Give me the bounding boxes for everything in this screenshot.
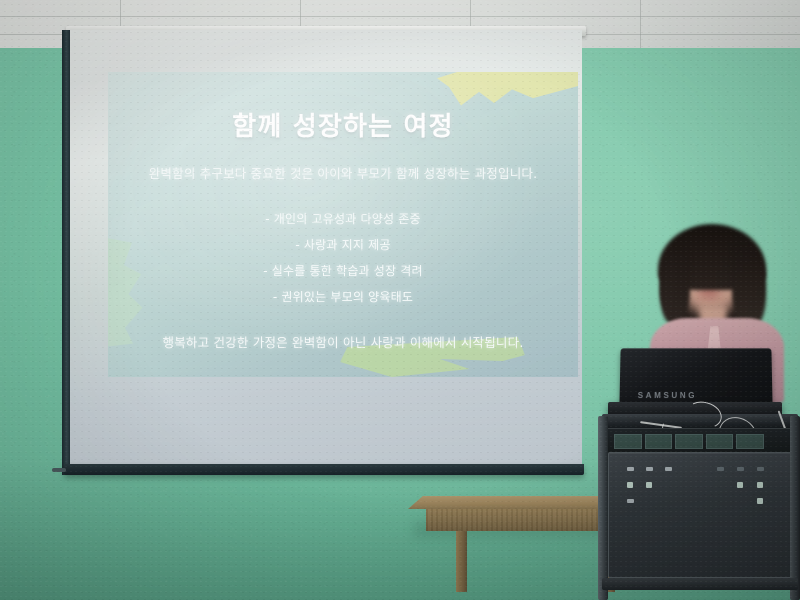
podium-button[interactable] — [737, 467, 744, 471]
slide-subtitle: 완벽함의 추구보다 중요한 것은 아이와 부모가 함께 성장하는 과정입니다. — [149, 163, 538, 182]
podium-button[interactable] — [717, 467, 724, 471]
podium-shelf-slots — [614, 434, 764, 449]
laptop-brand-logo: SAMSUNG — [638, 391, 697, 400]
slide-bullet-list: - 개인의 고유성과 다양성 존중 - 사랑과 지지 제공 - 실수를 통한 학… — [263, 210, 422, 305]
slide-bullet-item: - 사랑과 지지 제공 — [295, 236, 390, 253]
podium-led — [757, 498, 763, 504]
laptop-lid: SAMSUNG — [619, 348, 772, 408]
shelf-slot — [736, 434, 764, 449]
shelf-slot — [706, 434, 734, 449]
podium-button[interactable] — [646, 467, 653, 471]
projected-slide: 함께 성장하는 여정 완벽함의 추구보다 중요한 것은 아이와 부모가 함께 성… — [108, 72, 578, 377]
table-top — [408, 496, 620, 509]
slide-content: 함께 성장하는 여정 완벽함의 추구보다 중요한 것은 아이와 부모가 함께 성… — [108, 72, 578, 377]
podium-led — [646, 482, 652, 488]
screen-left-edge — [62, 30, 70, 475]
podium-led — [757, 482, 763, 488]
screen-bottom-weight-bar — [64, 464, 584, 475]
shelf-slot — [645, 434, 673, 449]
presenter-hair-left — [660, 250, 690, 324]
slide-bullet-item: - 개인의 고유성과 다양성 존중 — [265, 210, 420, 227]
classroom-photo-scene: 함께 성장하는 여정 완벽함의 추구보다 중요한 것은 아이와 부모가 함께 성… — [0, 0, 800, 600]
podium-button[interactable] — [627, 467, 634, 471]
projection-screen: 함께 성장하는 여정 완벽함의 추구보다 중요한 것은 아이와 부모가 함께 성… — [62, 30, 582, 475]
presenter-hair-right — [732, 248, 766, 328]
av-podium: SAMSUNG — [600, 352, 800, 600]
screen-surface: 함께 성장하는 여정 완벽함의 추구보다 중요한 것은 아이와 부모가 함께 성… — [70, 30, 582, 464]
wooden-table — [408, 492, 626, 600]
slide-closing-line: 행복하고 건강한 가정은 완벽함이 아닌 사랑과 이해에서 시작됩니다. — [163, 332, 524, 351]
slide-bullet-item: - 권위있는 부모의 양육태도 — [273, 288, 413, 305]
podium-led — [737, 482, 743, 488]
wood-grain — [426, 509, 620, 531]
slide-title: 함께 성장하는 여정 — [232, 106, 453, 143]
podium-bottom-rail — [602, 578, 798, 590]
podium-button[interactable] — [757, 467, 764, 471]
table-leg — [456, 531, 467, 592]
podium-button[interactable] — [627, 499, 634, 503]
podium-control-panel[interactable] — [608, 452, 792, 578]
podium-leg — [790, 416, 800, 600]
shelf-slot — [675, 434, 703, 449]
podium-led — [627, 482, 633, 488]
slide-bullet-item: - 실수를 통한 학습과 성장 격려 — [263, 262, 422, 279]
podium-leg — [598, 416, 608, 600]
podium-button[interactable] — [665, 467, 672, 471]
shelf-slot — [614, 434, 642, 449]
table-apron — [426, 509, 620, 531]
podium-button-grid[interactable] — [627, 467, 777, 513]
